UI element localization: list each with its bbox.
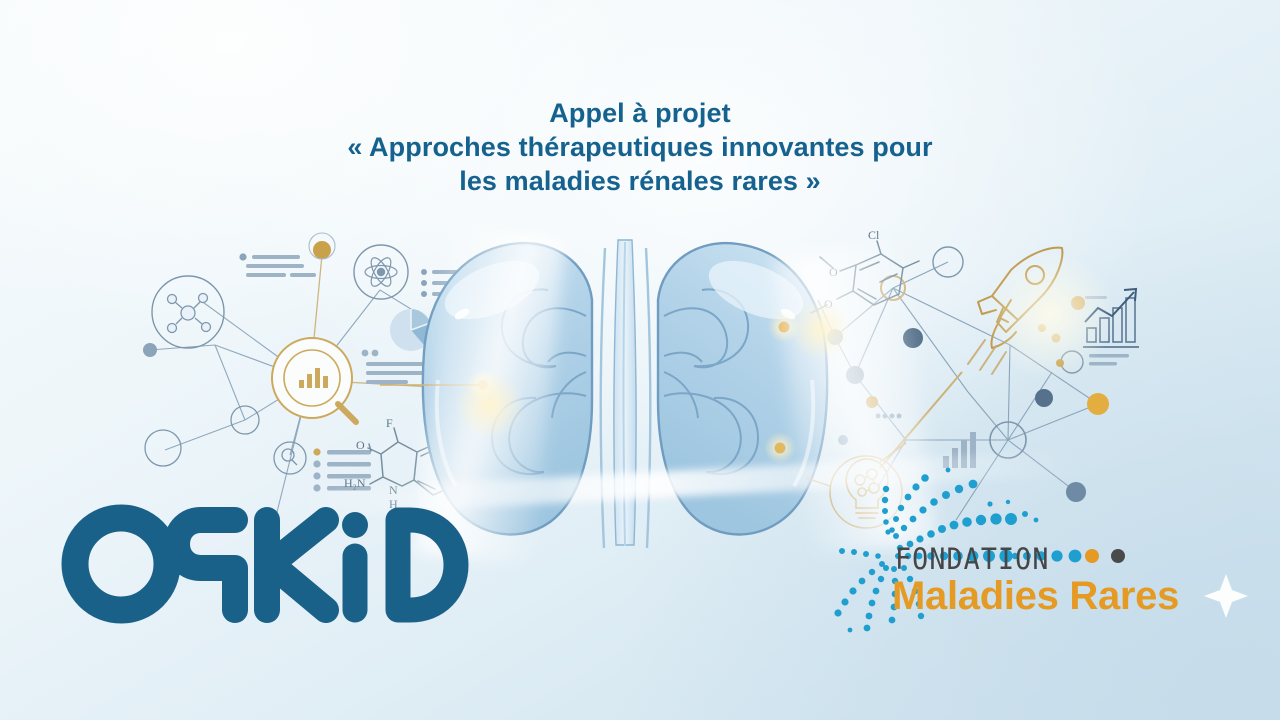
fmr-fondation-text: FONDATION	[895, 542, 1050, 576]
title-line-2: « Approches thérapeutiques innovantes po…	[0, 130, 1280, 164]
glow-spot	[790, 300, 850, 360]
sparkle-icon	[1204, 574, 1248, 618]
svg-text:O: O	[829, 265, 838, 279]
kidney-hotspot-dot	[779, 322, 790, 333]
glow-spot	[455, 370, 525, 440]
page-title: Appel à projet « Approches thérapeutique…	[0, 96, 1280, 198]
magnifier-barchart-icon	[272, 338, 356, 422]
orkid-logo[interactable]: ORKID logo ORKiD	[58, 498, 468, 628]
burst-dot-dark	[1111, 549, 1125, 563]
glow-spot	[985, 250, 1115, 380]
atom-glyph	[365, 255, 397, 289]
burst-dot-orange	[1085, 549, 1099, 563]
text-lines-icon	[239, 253, 316, 277]
node-circle	[145, 430, 181, 466]
orkid-i-dot	[342, 512, 368, 538]
right-molecule-labels: Cl O O	[824, 228, 880, 311]
svg-text:N: N	[389, 483, 398, 497]
kidney-hotspot-dot	[775, 443, 786, 454]
text-lines-icon	[362, 350, 426, 384]
title-line-1: Appel à projet	[0, 96, 1280, 130]
molecule-glyph	[168, 294, 211, 333]
svg-text:Cl: Cl	[868, 228, 880, 242]
slide-canvas: F OH O H₂N N H	[0, 0, 1280, 720]
fondation-maladies-rares-logo[interactable]: FONDATION Maladies Rares	[820, 470, 1260, 635]
node-dot-gold	[313, 241, 331, 259]
svg-text:F: F	[386, 416, 393, 430]
title-line-3: les maladies rénales rares »	[0, 164, 1280, 198]
fmr-maladies-rares-text: Maladies Rares	[892, 574, 1179, 619]
node-dot	[143, 343, 157, 357]
svg-text:O: O	[356, 438, 365, 452]
svg-text:H₂N: H₂N	[344, 476, 366, 490]
bar-chart-icon	[943, 432, 976, 468]
